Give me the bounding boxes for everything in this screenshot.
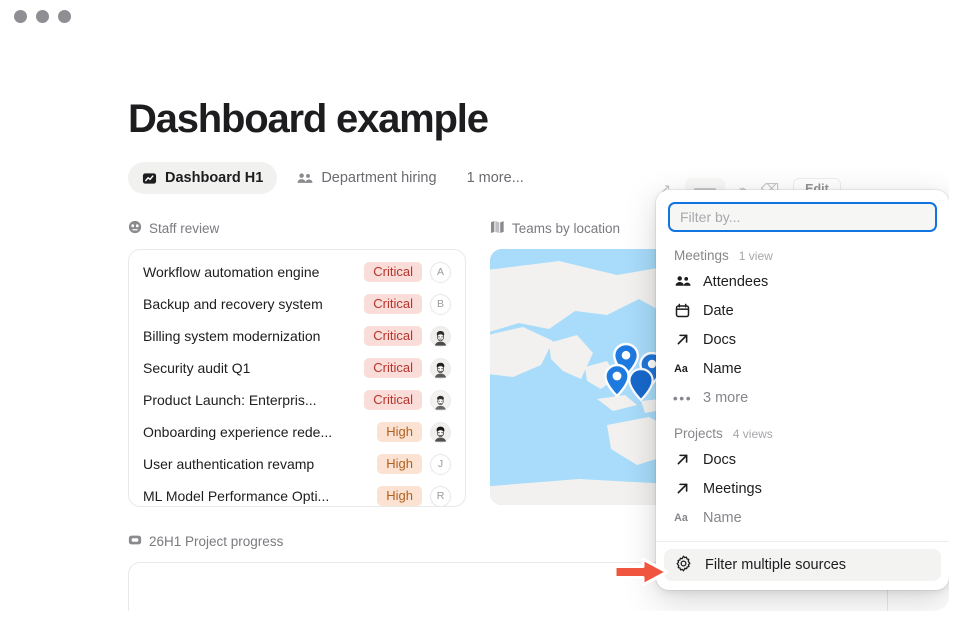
filter-multiple-sources-button[interactable]: Filter multiple sources: [664, 549, 941, 581]
status-badge: Critical: [364, 390, 422, 410]
tab-dashboard-h1[interactable]: Dashboard H1: [128, 162, 277, 194]
menu-item-docs[interactable]: Docs: [656, 325, 949, 354]
status-badge: High: [377, 422, 422, 442]
svg-text:Aa: Aa: [674, 363, 688, 375]
avatar: J: [430, 454, 451, 475]
status-badge: Critical: [364, 326, 422, 346]
menu-item-label: Date: [703, 303, 734, 319]
menu-item-label: Docs: [703, 452, 736, 468]
task-name: User authentication revamp: [143, 456, 369, 472]
avatar: A: [430, 262, 451, 283]
group-header-meetings: Meetings 1 view: [656, 242, 949, 267]
avatar: B: [430, 294, 451, 315]
tab-label: Department hiring: [321, 170, 436, 186]
text-aa-icon: Aa: [674, 362, 691, 375]
smiley-icon: [128, 220, 142, 237]
zoom-button[interactable]: [58, 10, 71, 23]
map-book-icon: [490, 220, 505, 237]
ellipsis-icon: •••: [674, 390, 691, 406]
menu-item-projects-meetings[interactable]: Meetings: [656, 474, 949, 503]
filter-input[interactable]: [668, 202, 937, 232]
arrow-up-right-icon: [674, 452, 691, 467]
menu-item-label: Docs: [703, 332, 736, 348]
task-name: ML Model Performance Opti...: [143, 488, 369, 504]
table-row[interactable]: Security audit Q1 Critical: [129, 352, 465, 384]
table-row[interactable]: User authentication revamp High J: [129, 448, 465, 480]
task-list[interactable]: Workflow automation engine Critical A Ba…: [129, 250, 465, 506]
page-title: Dashboard example: [128, 96, 888, 142]
status-badge: Critical: [364, 294, 422, 314]
menu-item-attendees[interactable]: Attendees: [656, 267, 949, 296]
annotation-arrow: [613, 556, 671, 588]
table-row[interactable]: Onboarding experience rede... High: [129, 416, 465, 448]
people-icon: [674, 275, 691, 288]
rounded-square-icon: [128, 533, 142, 550]
status-badge: High: [377, 454, 422, 474]
menu-item-label: Name: [703, 510, 742, 526]
section-title: 26H1 Project progress: [149, 534, 283, 549]
screenshot-root: Dashboard example Dashboard H1: [0, 0, 960, 621]
section-title: Teams by location: [512, 221, 620, 236]
task-name: Billing system modernization: [143, 328, 356, 344]
page-bottom-fade: [0, 611, 960, 621]
people-icon: [297, 171, 313, 186]
gear-icon: [675, 555, 692, 576]
menu-item-date[interactable]: Date: [656, 296, 949, 325]
minimize-button[interactable]: [36, 10, 49, 23]
menu-item-label: Attendees: [703, 274, 768, 290]
footer-label: Filter multiple sources: [705, 557, 846, 573]
group-count: 1 view: [739, 249, 773, 263]
table-row[interactable]: ML Model Performance Opti... High R: [129, 480, 465, 506]
table-row[interactable]: Billing system modernization Critical: [129, 320, 465, 352]
close-button[interactable]: [14, 10, 27, 23]
task-name: Workflow automation engine: [143, 264, 356, 280]
avatar: [430, 422, 451, 443]
text-aa-icon: Aa: [674, 511, 691, 524]
menu-item-label: Meetings: [703, 481, 762, 497]
chart-icon: [142, 171, 157, 186]
avatar: [430, 358, 451, 379]
status-badge: Critical: [364, 262, 422, 282]
filter-popover: Meetings 1 view Attendees: [656, 190, 949, 590]
tab-label: Dashboard H1: [165, 170, 263, 186]
section-title: Staff review: [149, 221, 219, 236]
arrow-up-right-icon: [674, 481, 691, 496]
task-name: Product Launch: Enterpris...: [143, 392, 356, 408]
calendar-icon: [674, 303, 691, 318]
svg-text:Aa: Aa: [674, 512, 688, 524]
avatar: R: [430, 486, 451, 507]
window-controls[interactable]: [14, 10, 71, 23]
table-row[interactable]: Workflow automation engine Critical A: [129, 256, 465, 288]
tab-department-hiring[interactable]: Department hiring: [283, 162, 450, 194]
group-header-projects: Projects 4 views: [656, 412, 949, 445]
menu-item-label: 3 more: [703, 390, 748, 406]
group-count: 4 views: [733, 427, 773, 441]
table-row[interactable]: Backup and recovery system Critical B: [129, 288, 465, 320]
group-title: Projects: [674, 426, 723, 441]
menu-item-projects-name[interactable]: Aa Name: [656, 503, 949, 532]
menu-item-projects-docs[interactable]: Docs: [656, 445, 949, 474]
avatar: [430, 390, 451, 411]
task-name: Security audit Q1: [143, 360, 356, 376]
avatar: [430, 326, 451, 347]
task-name: Onboarding experience rede...: [143, 424, 369, 440]
status-badge: High: [377, 486, 422, 506]
arrow-up-right-icon: [674, 332, 691, 347]
status-badge: Critical: [364, 358, 422, 378]
app-window: Dashboard example Dashboard H1: [0, 0, 949, 611]
filter-options-list: Meetings 1 view Attendees: [656, 232, 949, 541]
popover-footer: Filter multiple sources: [656, 541, 949, 590]
menu-item-name[interactable]: Aa Name: [656, 354, 949, 383]
menu-item-label: Name: [703, 361, 742, 377]
task-name: Backup and recovery system: [143, 296, 356, 312]
menu-item-more-meetings[interactable]: ••• 3 more: [656, 383, 949, 412]
popover-search-area: [656, 190, 949, 232]
staff-review-card: Workflow automation engine Critical A Ba…: [128, 249, 466, 507]
tabs-more-button[interactable]: 1 more...: [457, 170, 524, 186]
staff-review-section: Staff review Workflow automation engine …: [128, 220, 466, 507]
table-row[interactable]: Product Launch: Enterpris... Critical: [129, 384, 465, 416]
group-title: Meetings: [674, 248, 729, 263]
staff-review-header: Staff review: [128, 220, 466, 237]
